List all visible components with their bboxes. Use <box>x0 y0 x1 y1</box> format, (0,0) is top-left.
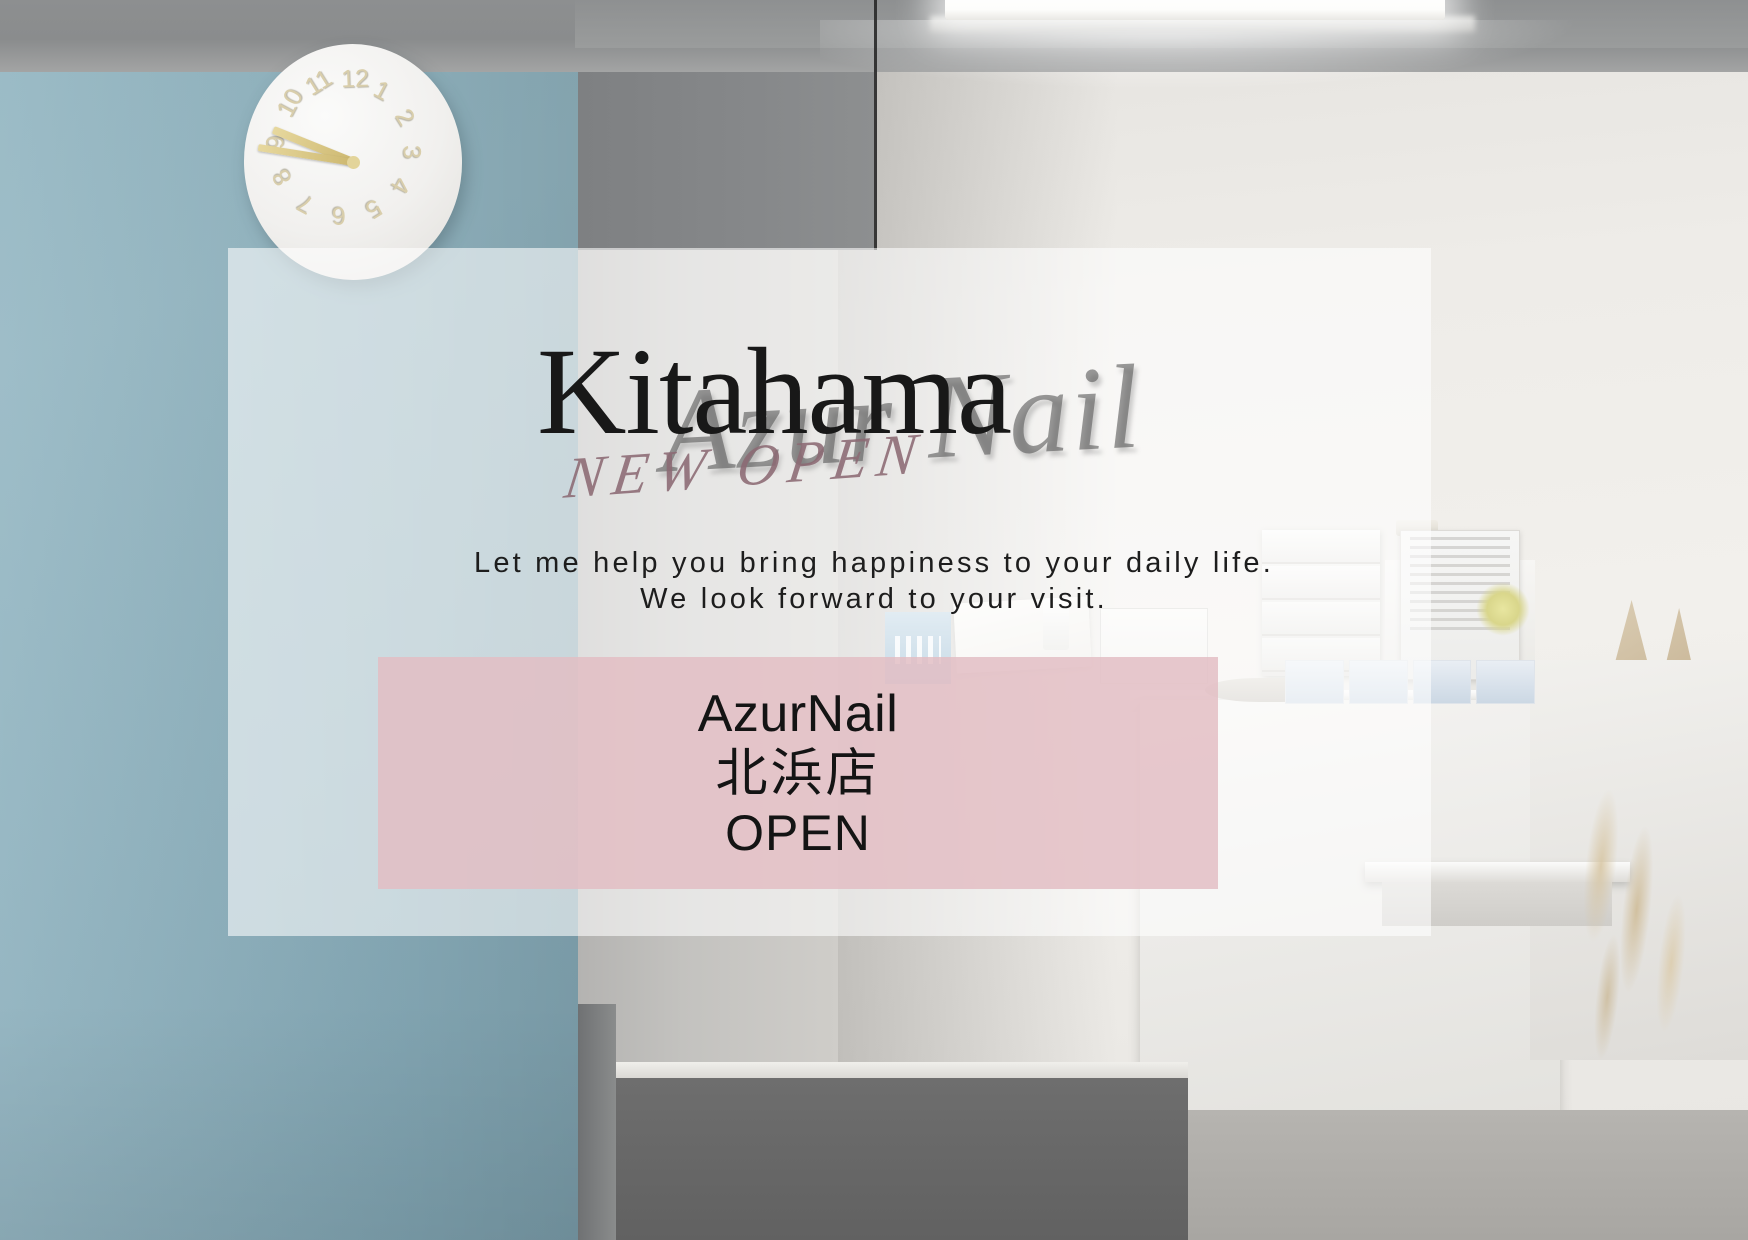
clock-numeral-3: 3 <box>396 144 425 159</box>
floor-light <box>1188 1110 1748 1240</box>
promo-poster: 123456789101112 <box>0 0 1748 1240</box>
clock-numeral-6: 6 <box>331 200 346 229</box>
clock-numeral-5: 5 <box>360 192 387 224</box>
clock-numeral-2: 2 <box>388 104 420 131</box>
clock-numeral-7: 7 <box>293 188 319 220</box>
clock-numeral-8: 8 <box>267 164 299 191</box>
teal-wall-shadow <box>0 1000 578 1240</box>
tagline: Let me help you bring happiness to your … <box>0 545 1748 618</box>
tagline-line-1: Let me help you bring happiness to your … <box>474 547 1274 579</box>
clock-numeral-12: 12 <box>341 64 370 94</box>
clock-numeral-4: 4 <box>384 172 416 198</box>
wall-edge-line <box>874 0 877 250</box>
tagline-line-2: We look forward to your visit. <box>0 581 1748 617</box>
fluorescent-tube-light <box>945 0 1445 20</box>
clock-numeral-1: 1 <box>368 75 394 107</box>
left-cabinet-edge <box>578 1004 616 1240</box>
floor-dark <box>578 1078 1188 1240</box>
banner-status: OPEN <box>725 802 871 860</box>
open-announcement-banner: AzurNail 北浜店 OPEN <box>378 657 1218 889</box>
banner-branch-name: 北浜店 <box>715 742 880 802</box>
clock-numeral-10: 10 <box>271 84 310 122</box>
banner-brand-name: AzurNail <box>698 686 899 742</box>
